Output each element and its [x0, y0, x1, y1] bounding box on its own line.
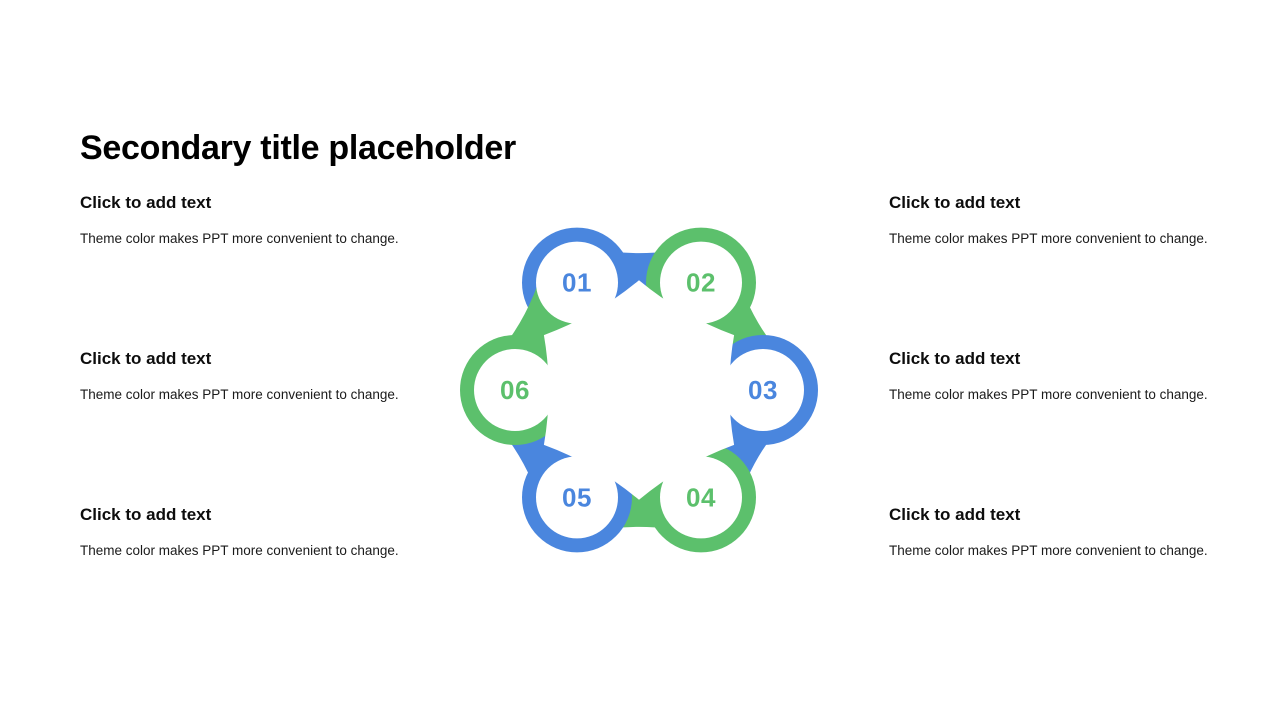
node-number-05: 05 — [562, 482, 592, 512]
text-block-left-top[interactable]: Click to add text Theme color makes PPT … — [80, 193, 400, 252]
node-number-06: 06 — [500, 375, 530, 405]
hexagonal-cycle-diagram: 010203040506 — [425, 190, 855, 590]
page-title: Secondary title placeholder — [80, 129, 516, 168]
hexagonal-cycle-svg: 010203040506 — [425, 190, 855, 590]
node-number-03: 03 — [748, 375, 778, 405]
text-block-heading: Click to add text — [889, 349, 1209, 369]
text-block-heading: Click to add text — [80, 193, 400, 213]
text-block-left-bottom[interactable]: Click to add text Theme color makes PPT … — [80, 505, 400, 564]
text-block-body: Theme color makes PPT more convenient to… — [80, 227, 400, 252]
text-block-right-top[interactable]: Click to add text Theme color makes PPT … — [889, 193, 1209, 252]
node-number-01: 01 — [562, 268, 592, 298]
text-block-right-middle[interactable]: Click to add text Theme color makes PPT … — [889, 349, 1209, 408]
text-block-left-middle[interactable]: Click to add text Theme color makes PPT … — [80, 349, 400, 408]
text-block-body: Theme color makes PPT more convenient to… — [80, 383, 400, 408]
text-block-body: Theme color makes PPT more convenient to… — [80, 539, 400, 564]
node-number-02: 02 — [686, 268, 716, 298]
text-block-body: Theme color makes PPT more convenient to… — [889, 383, 1209, 408]
text-block-heading: Click to add text — [889, 193, 1209, 213]
text-block-body: Theme color makes PPT more convenient to… — [889, 539, 1209, 564]
text-block-heading: Click to add text — [889, 505, 1209, 525]
text-block-heading: Click to add text — [80, 349, 400, 369]
node-number-04: 04 — [686, 482, 716, 512]
text-block-right-bottom[interactable]: Click to add text Theme color makes PPT … — [889, 505, 1209, 564]
text-block-heading: Click to add text — [80, 505, 400, 525]
text-block-body: Theme color makes PPT more convenient to… — [889, 227, 1209, 252]
